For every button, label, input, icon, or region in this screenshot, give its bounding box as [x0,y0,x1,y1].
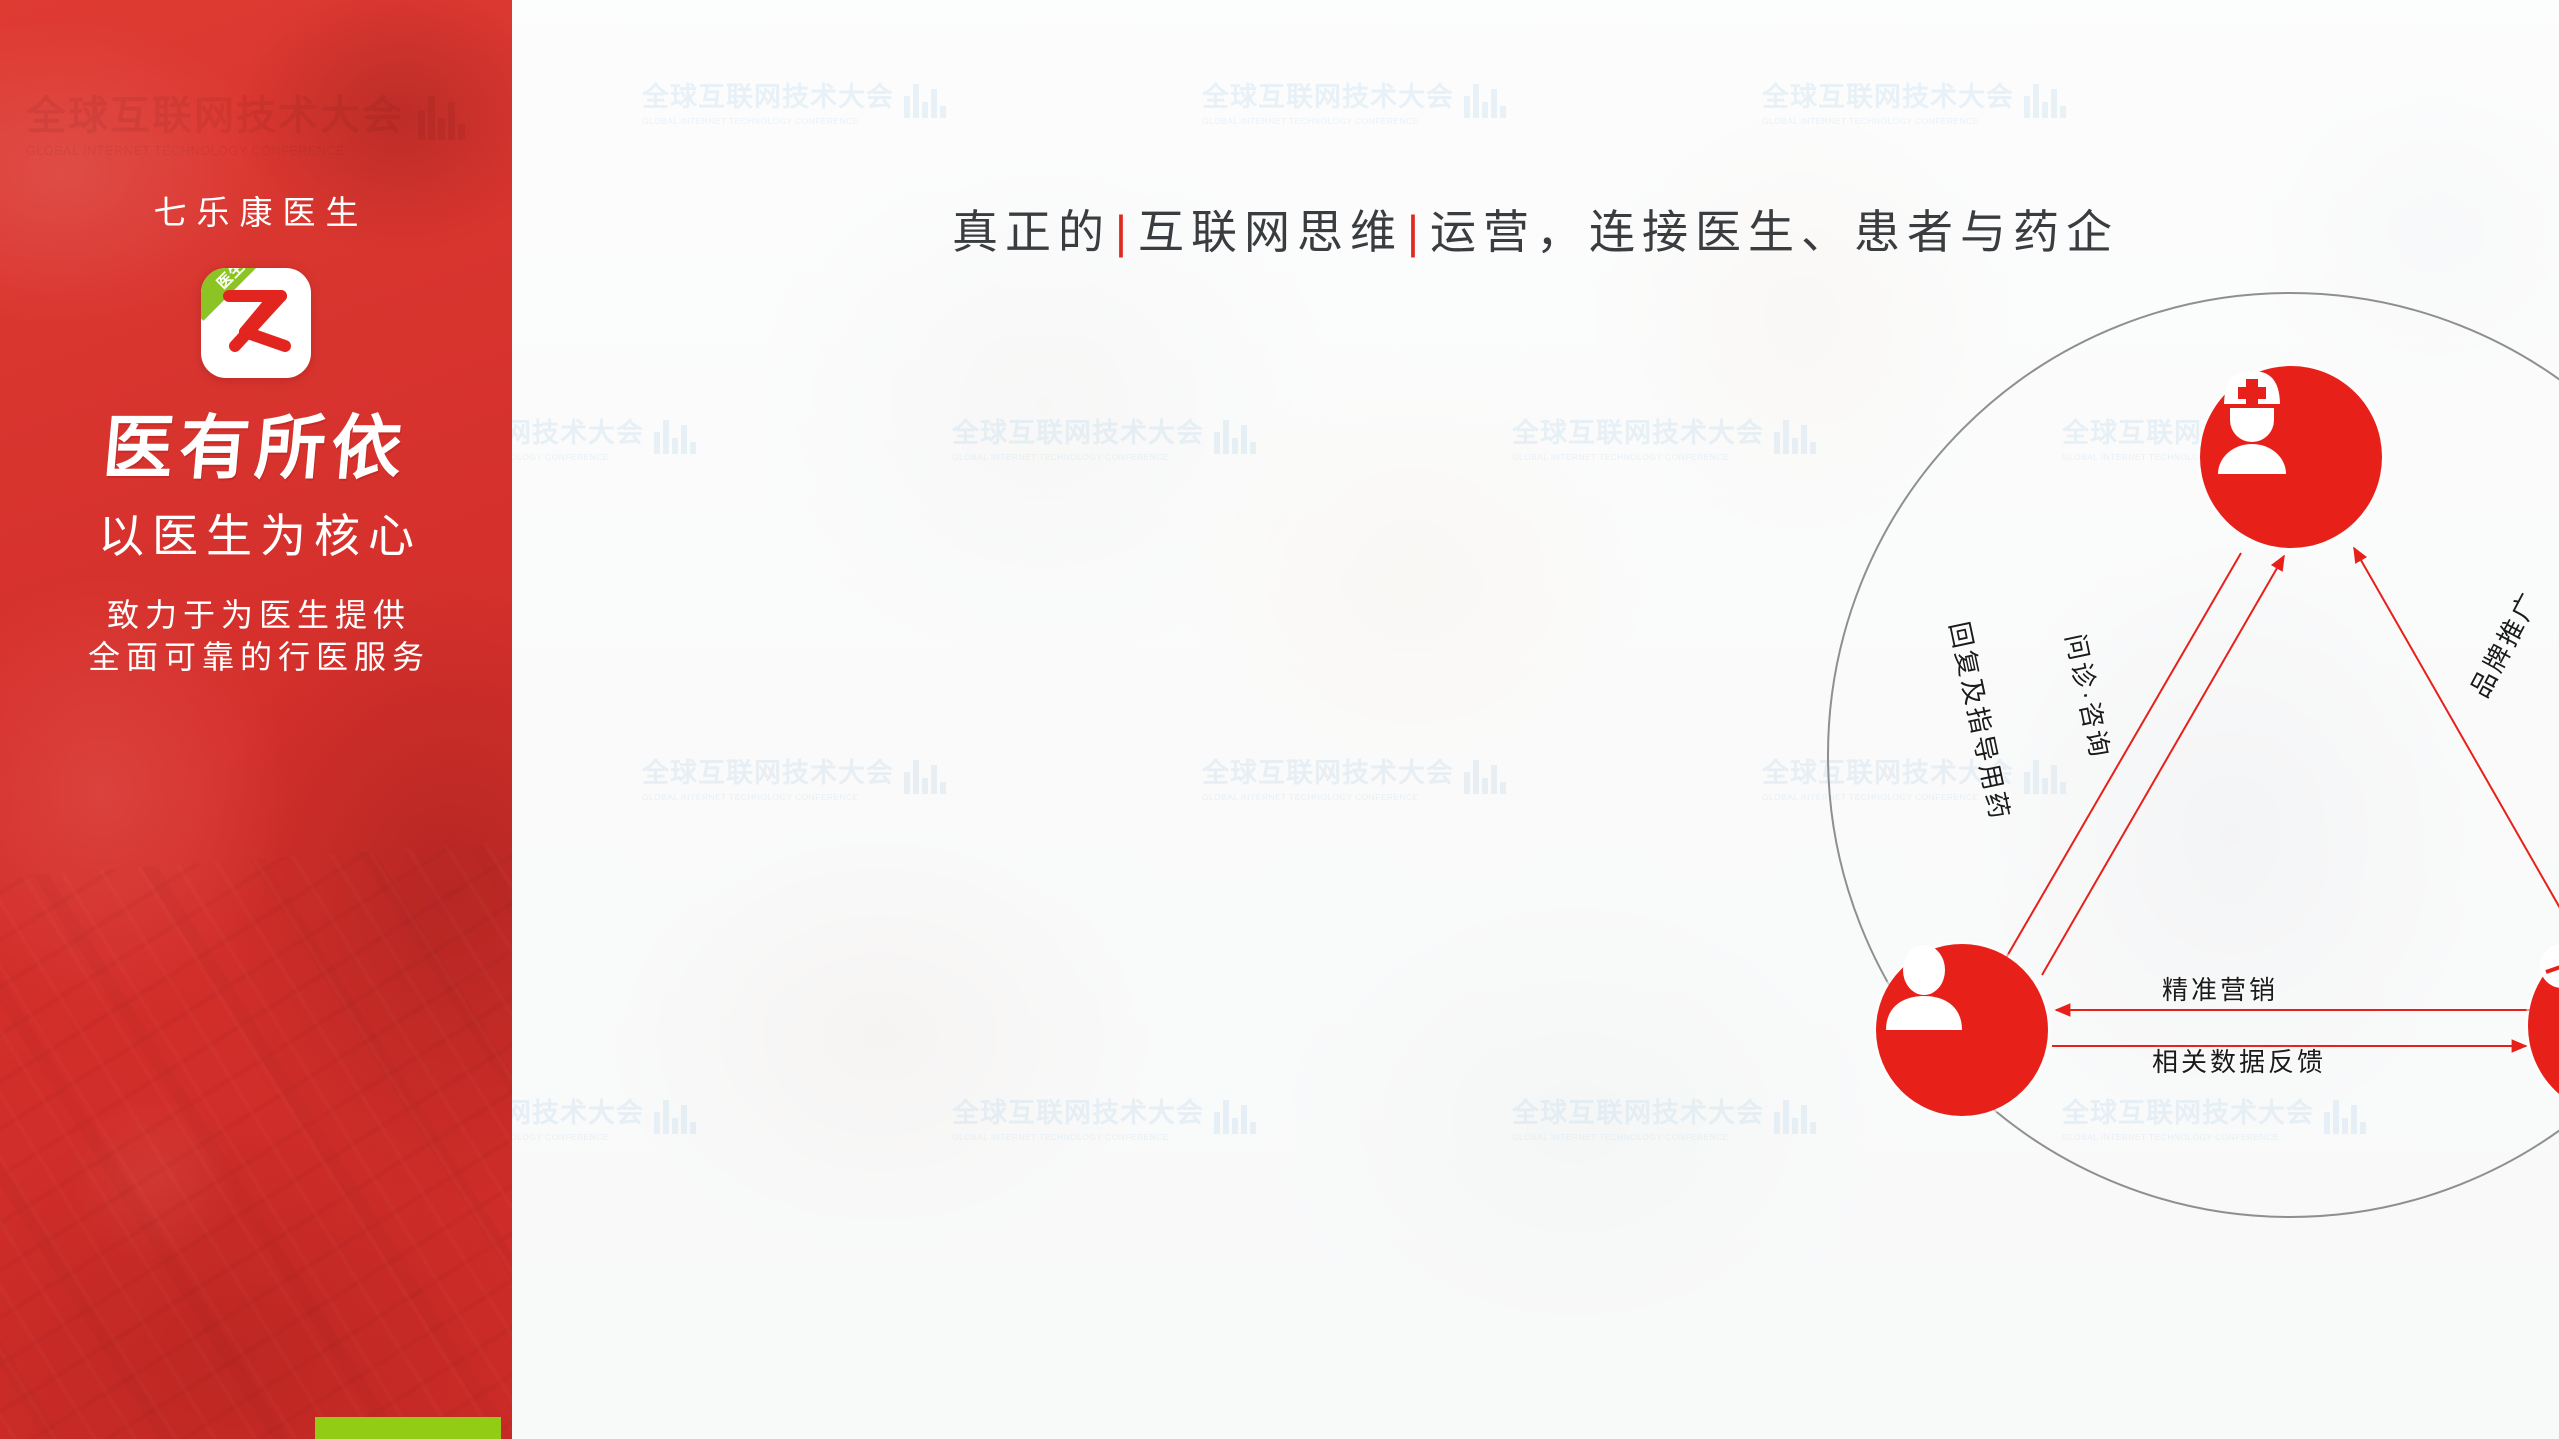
slide-root: 全球互联网技术大会 GLOBAL INTERNET TECHNOLOGY CON… [0,0,2559,1439]
edge-label-data-feedback: 相关数据反馈 [2152,1042,2326,1079]
page-title-part2: 互联网思维 [1138,206,1403,258]
left-brand-panel: 全球互联网技术大会 GLOBAL INTERNET TECHNOLOGY CON… [0,0,512,1439]
nurse-doctor-icon [2200,366,2304,474]
pill-capsule-icon [2528,936,2559,1036]
edge-patient-to-doctor [2042,556,2284,975]
user-icon [1876,944,1972,1030]
headline: 以医生为核心 [0,500,512,566]
page-title-part1: 真正的 [952,206,1111,258]
app-icon[interactable]: 医生 [201,268,311,378]
page-title-separator-2: | [1407,206,1426,258]
edge-label-precise-marketing: 精准营销 [2162,970,2278,1007]
right-content-panel: 全球互联网技术大会 GLOBAL INTERNET TECHNOLOGY CON… [512,0,2559,1439]
app-logo-icon [215,284,297,362]
node-patient[interactable] [1876,944,2048,1116]
subline-1: 致力于为医生提供 [0,594,512,636]
edge-doctor-to-patient [1999,553,2241,970]
brand-name: 七乐康医生 [0,186,512,234]
node-doctor[interactable] [2200,366,2382,548]
green-accent-bar [315,1417,501,1439]
subline-2: 全面可靠的行医服务 [0,636,512,678]
subline-block: 致力于为医生提供 全面可靠的行医服务 [0,594,512,678]
page-title-separator-1: | [1115,206,1134,258]
page-title: 真正的|互联网思维|运营，连接医生、患者与药企 [512,196,2559,262]
left-panel-content: 七乐康医生 医生 医有所依 以医生为核心 致力于为医生提供 [0,0,512,1439]
page-title-part3: 运营，连接医生、患者与药企 [1430,206,2119,258]
calligraphy-slogan: 医有所依 [0,392,512,493]
